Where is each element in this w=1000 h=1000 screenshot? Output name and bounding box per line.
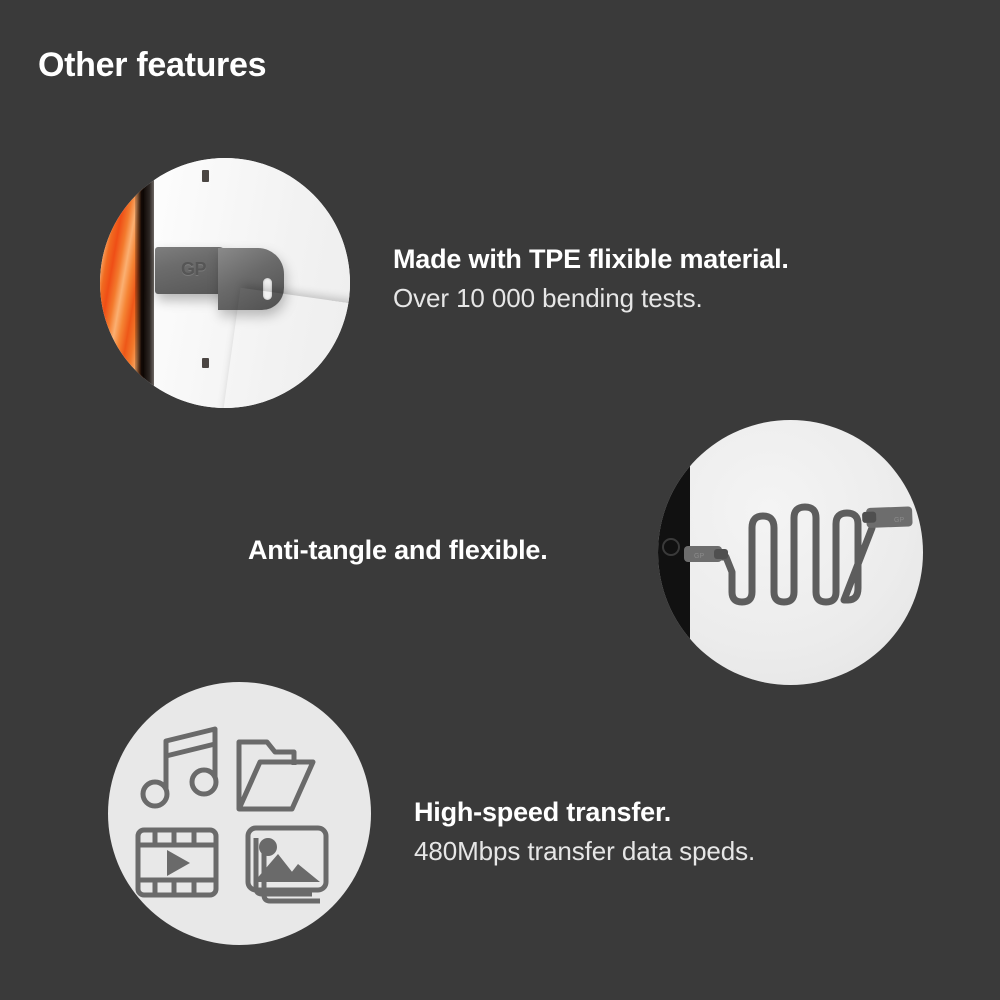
phone-screen-gradient — [100, 158, 144, 408]
media-icons-illustration — [108, 682, 371, 945]
feature-text-transfer: High-speed transfer. 480Mbps transfer da… — [414, 797, 755, 867]
feature-image-transfer — [108, 682, 371, 945]
feature-text-anti-tangle: Anti-tangle and flexible. — [248, 535, 548, 566]
svg-text:GP: GP — [894, 517, 904, 524]
play-triangle-icon — [167, 850, 190, 876]
music-note-icon — [143, 729, 216, 806]
feature-headline-transfer: High-speed transfer. — [414, 797, 755, 828]
feature-subline-transfer: 480Mbps transfer data speds. — [414, 836, 755, 867]
folder-icon — [239, 742, 313, 809]
brand-logo-gp: GP — [181, 259, 206, 280]
page-title: Other features — [38, 46, 266, 85]
feature-headline-tpe: Made with TPE flixible material. — [393, 244, 789, 275]
phone-side-button-bottom — [202, 358, 209, 368]
feature-text-tpe: Made with TPE flixible material. Over 10… — [393, 244, 789, 314]
zigzag-cable-illustration: GP GP — [658, 420, 923, 685]
photo-stack-icon — [248, 828, 326, 901]
svg-text:GP: GP — [694, 553, 704, 560]
phone-bezel — [144, 158, 154, 408]
feature-image-anti-tangle: GP GP — [658, 420, 923, 685]
phone-side-button-top — [202, 170, 209, 182]
usb-connector-housing: GP — [155, 247, 227, 294]
connector-right: GP — [862, 506, 913, 528]
other-features-panel: Other features GP Made with TPE flixible… — [0, 0, 1000, 1000]
feature-image-tpe: GP — [100, 158, 350, 408]
connector-left: GP — [684, 546, 728, 562]
feature-subline-tpe: Over 10 000 bending tests. — [393, 283, 789, 314]
feature-headline-anti-tangle: Anti-tangle and flexible. — [248, 535, 548, 566]
